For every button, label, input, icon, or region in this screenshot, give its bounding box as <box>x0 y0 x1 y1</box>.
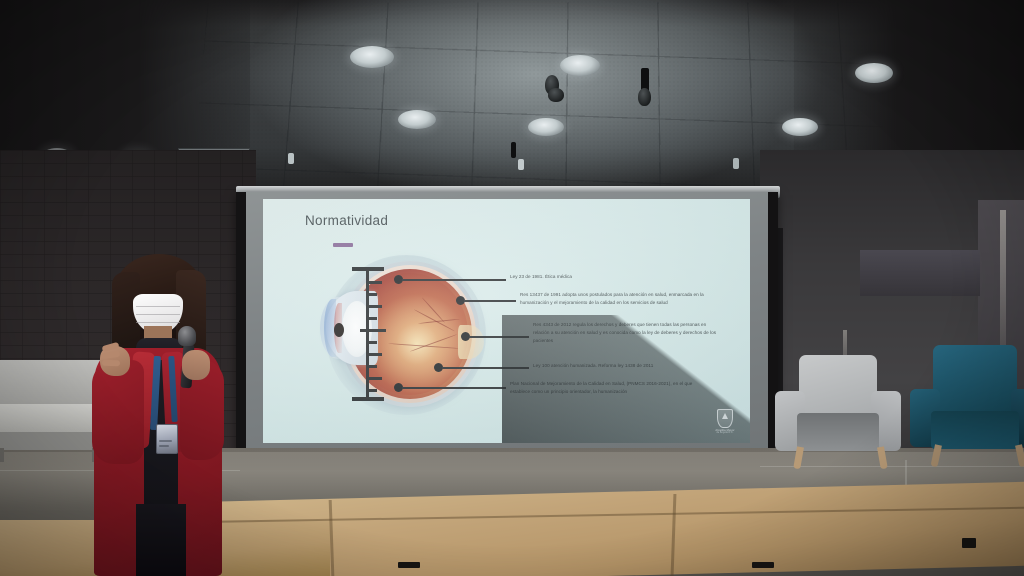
callout-text: Ley 100 atención humanizada. Reforma ley… <box>533 362 721 370</box>
armchair-seat <box>931 411 1019 449</box>
scale-tick <box>366 365 377 368</box>
callout-text: Plan Nacional de Mejoramiento de la Cali… <box>510 380 698 396</box>
armchair-gray <box>775 355 927 475</box>
logo-line-2: de Bogotá D.C. <box>712 432 738 434</box>
mask-fold <box>136 314 180 315</box>
id-badge <box>156 424 178 454</box>
ceiling-light <box>560 55 600 76</box>
scale-end-cap <box>352 267 384 271</box>
scale-tick <box>366 341 377 344</box>
ceiling-speaker <box>548 88 564 102</box>
eagle-icon <box>722 413 728 419</box>
callout-line <box>469 336 529 338</box>
stage-floor-socket <box>752 562 774 568</box>
scale-tick <box>366 281 382 284</box>
wall-light-strip <box>1000 210 1006 360</box>
ceiling-light <box>350 46 394 68</box>
scale-tick <box>366 317 377 320</box>
finger <box>102 360 120 367</box>
ceiling-sensor <box>511 142 516 158</box>
skirt <box>136 504 186 576</box>
microphone-head <box>178 326 196 346</box>
ceiling-light <box>782 118 818 136</box>
armchair-teal <box>915 345 1024 475</box>
scale-tick <box>366 293 377 296</box>
callout-text: Res 4343 de 2012 regula los derechos y d… <box>533 321 719 345</box>
slide-title: Normatividad <box>305 213 388 228</box>
shield-icon <box>717 409 733 428</box>
scale-tick <box>366 377 382 380</box>
ceiling-light <box>528 118 564 136</box>
scale-end-cap <box>352 397 384 401</box>
mask-fold <box>136 306 180 307</box>
photo-scene: Normatividad <box>0 0 1024 576</box>
callout-line <box>442 367 529 369</box>
scale-tick <box>366 305 382 308</box>
armchair-leg <box>1015 444 1024 467</box>
ceiling-light <box>398 110 436 129</box>
ceiling-light <box>855 63 893 83</box>
ceiling-marker <box>733 158 739 169</box>
stage-floor-socket <box>962 538 976 548</box>
screen-edge-left <box>236 192 246 464</box>
callout-text: Ley 23 de 1981. Ética médica <box>510 273 700 281</box>
ceiling-marker <box>518 159 524 170</box>
scale-tick <box>360 329 386 332</box>
ceiling-camera <box>638 88 651 106</box>
scale-tick <box>366 389 377 392</box>
sofa-leg <box>0 448 4 462</box>
alcaldia-bogota-logo: Alcaldía Mayor de Bogotá D.C. <box>712 409 738 435</box>
pupil <box>334 323 344 337</box>
badge-text-line <box>159 445 169 447</box>
callout-line <box>402 279 506 281</box>
badge-text-line <box>159 440 172 442</box>
mask-fold <box>136 322 180 323</box>
right-hand <box>182 350 210 380</box>
callout-line <box>402 387 506 389</box>
projected-slide: Normatividad <box>263 199 750 443</box>
scale-tick <box>366 353 382 356</box>
stage-floor-socket <box>398 562 420 568</box>
ceiling-marker <box>288 153 294 164</box>
callout-line <box>464 300 516 302</box>
presenter <box>86 252 226 576</box>
callout-text: Res 13437 de 1991 adopta unos postulados… <box>520 291 712 307</box>
armchair-seat <box>797 413 879 451</box>
wall-panel <box>860 250 980 296</box>
